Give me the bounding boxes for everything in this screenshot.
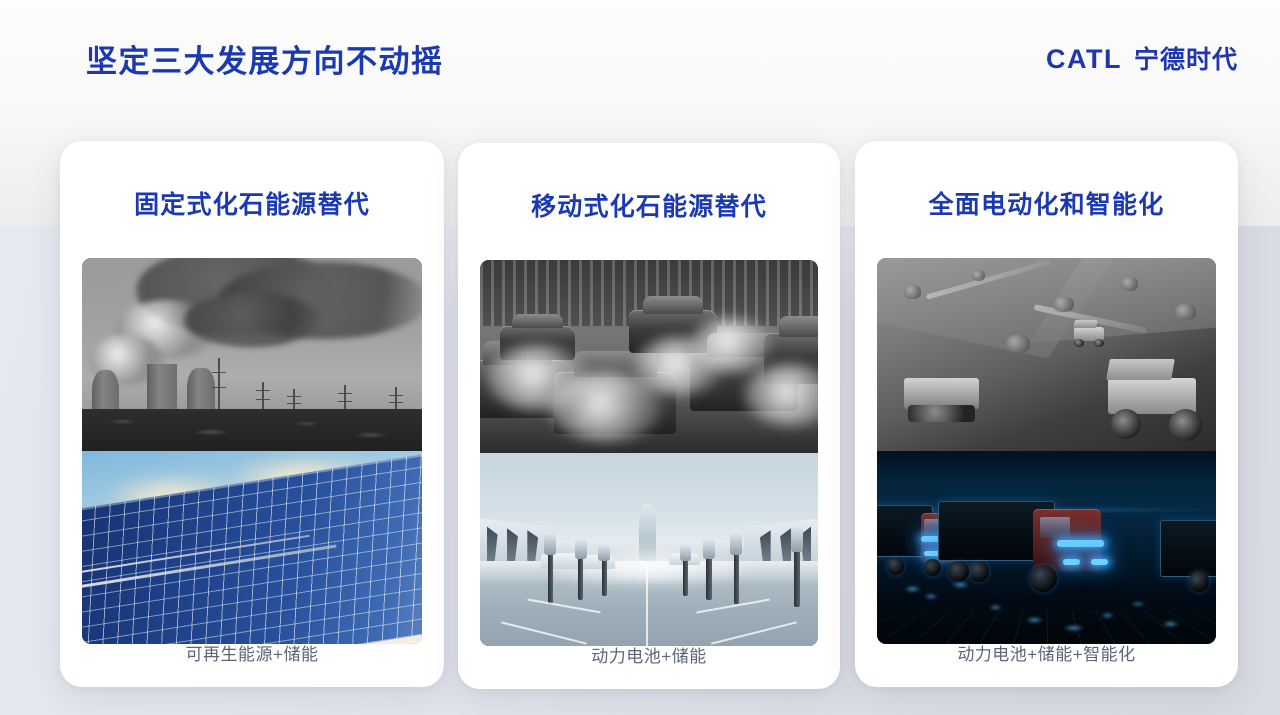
card-title: 固定式化石能源替代 (60, 185, 444, 221)
solar-panel-farm-image (82, 451, 422, 644)
card-title: 移动式化石能源替代 (458, 187, 840, 223)
traffic-scene (480, 260, 818, 453)
card-media (82, 258, 422, 644)
card-caption: 动力电池+储能+智能化 (855, 640, 1238, 665)
card-caption: 动力电池+储能 (458, 642, 840, 667)
smart-electric-trucks-image (877, 451, 1216, 644)
card-stationary-fossil-replacement[interactable]: 固定式化石能源替代 (60, 141, 444, 687)
coal-power-plant-image (82, 258, 422, 451)
electric-truck-scene (877, 451, 1216, 644)
card-full-electrification-intelligence[interactable]: 全面电动化和智能化 (855, 141, 1238, 687)
ground-foreground (82, 409, 422, 451)
card-title: 全面电动化和智能化 (855, 185, 1238, 221)
charging-scene (480, 453, 818, 646)
open-pit-mining-image (877, 258, 1216, 451)
card-media (480, 260, 818, 646)
card-mobile-fossil-replacement[interactable]: 移动式化石能源替代 (458, 143, 840, 689)
mining-scene (877, 258, 1216, 451)
solar-scene (82, 451, 422, 644)
traffic-jam-exhaust-image (480, 260, 818, 453)
card-caption: 可再生能源+储能 (60, 640, 444, 665)
slide-root: 坚定三大发展方向不动摇 CATL 宁德时代 固定式化石能源替代 (0, 0, 1280, 715)
ev-charging-station-image (480, 453, 818, 646)
power-plant-scene (82, 258, 422, 451)
card-grid: 固定式化石能源替代 (0, 0, 1280, 715)
card-media (877, 258, 1216, 644)
